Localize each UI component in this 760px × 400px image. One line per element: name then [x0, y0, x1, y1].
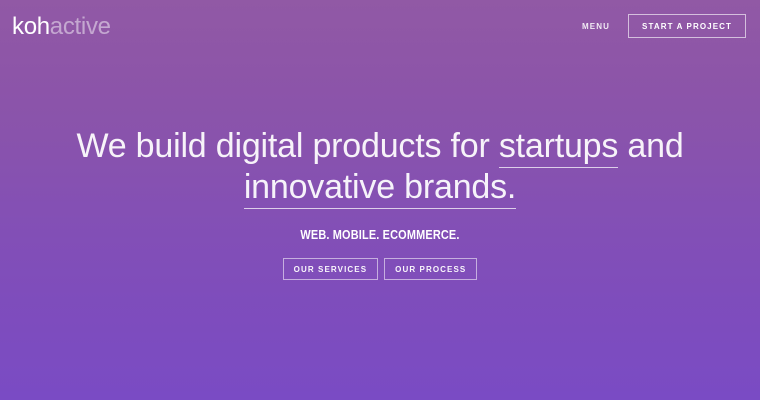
our-process-button[interactable]: OUR PROCESS — [384, 258, 477, 280]
hero-content: We build digital products for startups a… — [0, 126, 760, 280]
logo[interactable]: kohactive — [12, 13, 111, 39]
hero-subtitle: WEB. MOBILE. ECOMMERCE. — [61, 228, 699, 241]
headline-segment-1: We build digital products for — [76, 127, 498, 165]
logo-text-primary: koh — [12, 13, 50, 40]
site-header: kohactive MENU START A PROJECT — [0, 0, 760, 52]
headline-highlight-innovative-brands: innovative brands. — [244, 168, 516, 209]
hero-section: kohactive MENU START A PROJECT We build … — [0, 0, 760, 400]
page-title: We build digital products for startups a… — [0, 126, 760, 208]
headline-segment-2: and — [618, 127, 683, 165]
our-services-button[interactable]: OUR SERVICES — [283, 258, 379, 280]
menu-toggle[interactable]: MENU — [580, 18, 612, 35]
logo-text-secondary: active — [50, 13, 111, 40]
start-a-project-button[interactable]: START A PROJECT — [628, 14, 746, 38]
primary-nav: MENU START A PROJECT — [580, 14, 746, 38]
headline-highlight-startups: startups — [499, 127, 618, 168]
hero-cta-row: OUR SERVICES OUR PROCESS — [0, 258, 760, 280]
